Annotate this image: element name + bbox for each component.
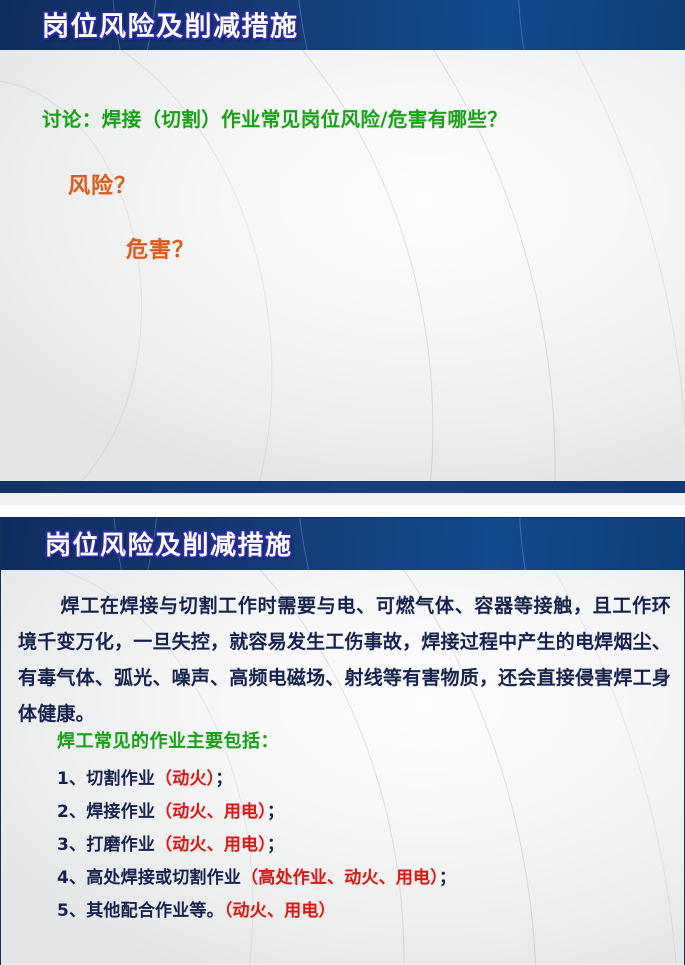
list-item-risk-tag: （动火、用电） [155,802,267,822]
list-item-number: 4、 [57,868,86,888]
discussion-question: 讨论：焊接（切割）作业常见岗位风险/危害有哪些？ [42,103,507,132]
list-item: 1、切割作业（动火）； [57,763,657,796]
list-item-label: 高处焊接或切割作业 [86,868,241,888]
list-item: 4、高处焊接或切割作业（高处作业、动火、用电）； [57,862,657,895]
list-item-risk-tag: （动火、用电） [224,901,336,921]
operations-list: 1、切割作业（动火）；2、焊接作业（动火、用电）；3、打磨作业（动火、用电）；4… [57,763,657,928]
background-arc-6 [0,75,150,493]
list-item-terminator: ； [267,835,284,855]
title-sheen-arc-3 [479,0,685,50]
slide-1-title-bar: 岗位风险及削减措施 [0,0,685,50]
title-sheen-arc-1 [234,518,684,570]
slide-1: 岗位风险及削减措施 讨论：焊接（切割）作业常见岗位风险/危害有哪些？ 风险？ 危… [0,0,685,505]
list-item-risk-tag: （动火） [155,769,215,789]
prompt-risk: 风险？ [68,168,137,200]
list-item-label: 其他配合作业等。 [86,901,224,921]
slide-2: 岗位风险及削减措施 焊工在焊接与切割工作时需要与电、可燃气体、容器等接触，且工作… [0,517,685,965]
list-item-terminator: ； [439,868,456,888]
operations-subheading: 焊工常见的作业主要包括： [57,727,279,753]
slide-2-title: 岗位风险及削减措施 [45,525,293,562]
list-item-number: 3、 [57,835,86,855]
list-item-terminator: ； [267,802,284,822]
list-item: 3、打磨作业（动火、用电）； [57,829,657,862]
slide-2-body: 焊工在焊接与切割工作时需要与电、可燃气体、容器等接触，且工作环境千变万化，一旦失… [1,570,684,964]
prompt-hazard: 危害？ [126,232,195,264]
list-item-label: 打磨作业 [86,835,155,855]
list-item-risk-tag: （动火、用电） [155,835,267,855]
paragraph-text: 焊工在焊接与切割工作时需要与电、可燃气体、容器等接触，且工作环境千变万化，一旦失… [18,595,671,725]
slide-deck: 岗位风险及削减措施 讨论：焊接（切割）作业常见岗位风险/危害有哪些？ 风险？ 危… [0,0,685,965]
slide-2-title-bar: 岗位风险及削减措施 [1,518,684,570]
slide-1-body: 讨论：焊接（切割）作业常见岗位风险/危害有哪些？ 风险？ 危害？ [0,50,685,493]
list-item: 2、焊接作业（动火、用电）； [57,796,657,829]
slide-1-bottom-bar [0,481,685,493]
title-sheen-arc-3 [480,518,684,570]
list-item-label: 焊接作业 [86,802,155,822]
slide-1-title: 岗位风险及削减措施 [42,5,299,44]
list-item-number: 5、 [57,901,86,921]
intro-paragraph: 焊工在焊接与切割工作时需要与电、可燃气体、容器等接触，且工作环境千变万化，一旦失… [18,588,671,732]
list-item-number: 2、 [57,802,86,822]
list-item-number: 1、 [57,769,86,789]
list-item-label: 切割作业 [86,769,155,789]
list-item-terminator: ； [215,769,232,789]
list-item-risk-tag: （高处作业、动火、用电） [241,868,439,888]
list-item: 5、其他配合作业等。（动火、用电） [57,895,657,928]
title-sheen-arc-1 [233,0,685,50]
